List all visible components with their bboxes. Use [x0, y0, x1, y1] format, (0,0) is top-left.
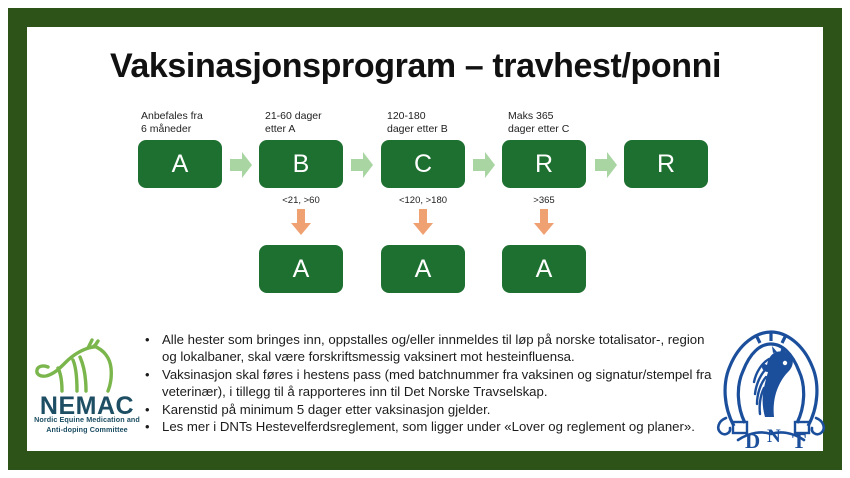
condition-label-r: >365	[502, 195, 586, 206]
arrow-down-r-to-a	[534, 209, 554, 235]
bullet-text: Karenstid på minimum 5 dager etter vaksi…	[162, 401, 715, 418]
list-item: • Les mer i DNTs Hestevelferdsreglement,…	[145, 418, 715, 435]
bullet-text: Alle hester som bringes inn, oppstalles …	[162, 331, 715, 366]
flow-node-c[interactable]: C	[381, 140, 465, 188]
list-item: • Vaksinasjon skal føres i hestens pass …	[145, 366, 715, 401]
nemac-logo: NEMAC Nordic Equine Medication and Anti-…	[28, 334, 146, 438]
bullet-marker-icon: •	[145, 331, 162, 348]
nemac-tagline-line1: Nordic Equine Medication and	[28, 415, 146, 424]
list-item: • Karenstid på minimum 5 dager etter vak…	[145, 401, 715, 418]
fallback-node-a-3[interactable]: A	[502, 245, 586, 293]
node-caption-a: Anbefales fra 6 måneder	[141, 110, 236, 136]
bullet-marker-icon: •	[145, 366, 162, 383]
arrow-right-b-to-c	[351, 152, 373, 178]
dnt-letter-d: D	[745, 429, 760, 448]
condition-label-c: <120, >180	[381, 195, 465, 206]
frame-border-left	[8, 8, 27, 470]
arrow-down-b-to-a	[291, 209, 311, 235]
dnt-letter-t: T	[792, 429, 806, 448]
dnt-horseshoe-icon: D N T	[712, 322, 830, 448]
bullet-text: Les mer i DNTs Hestevelferdsreglement, s…	[162, 418, 715, 435]
arrow-right-r-to-r	[595, 152, 617, 178]
fallback-node-a-1[interactable]: A	[259, 245, 343, 293]
bullet-marker-icon: •	[145, 401, 162, 418]
list-item: • Alle hester som bringes inn, oppstalle…	[145, 331, 715, 366]
flow-node-b[interactable]: B	[259, 140, 343, 188]
node-caption-c: 120-180 dager etter B	[387, 110, 487, 136]
node-caption-r1: Maks 365 dager etter C	[508, 110, 608, 136]
condition-label-b: <21, >60	[259, 195, 343, 206]
page-title: Vaksinasjonsprogram – travhest/ponni	[110, 47, 721, 86]
fallback-node-a-2[interactable]: A	[381, 245, 465, 293]
arrow-right-c-to-r	[473, 152, 495, 178]
frame-border-bottom	[8, 451, 842, 470]
arrow-right-a-to-b	[230, 152, 252, 178]
flow-node-a[interactable]: A	[138, 140, 222, 188]
bullet-marker-icon: •	[145, 418, 162, 435]
flow-node-r2[interactable]: R	[624, 140, 708, 188]
bullet-list: • Alle hester som bringes inn, oppstalle…	[145, 331, 715, 435]
nemac-tagline-line2: Anti-doping Committee	[28, 425, 146, 434]
dnt-letter-n: N	[767, 426, 781, 447]
frame-border-top	[8, 8, 842, 27]
nemac-horse-icon	[28, 334, 146, 394]
flow-node-r1[interactable]: R	[502, 140, 586, 188]
arrow-down-c-to-a	[413, 209, 433, 235]
dnt-logo: D N T	[712, 322, 830, 448]
slide-canvas: Vaksinasjonsprogram – travhest/ponni Anb…	[0, 0, 850, 478]
bullet-text: Vaksinasjon skal føres i hestens pass (m…	[162, 366, 715, 401]
node-caption-b: 21-60 dager etter A	[265, 110, 360, 136]
